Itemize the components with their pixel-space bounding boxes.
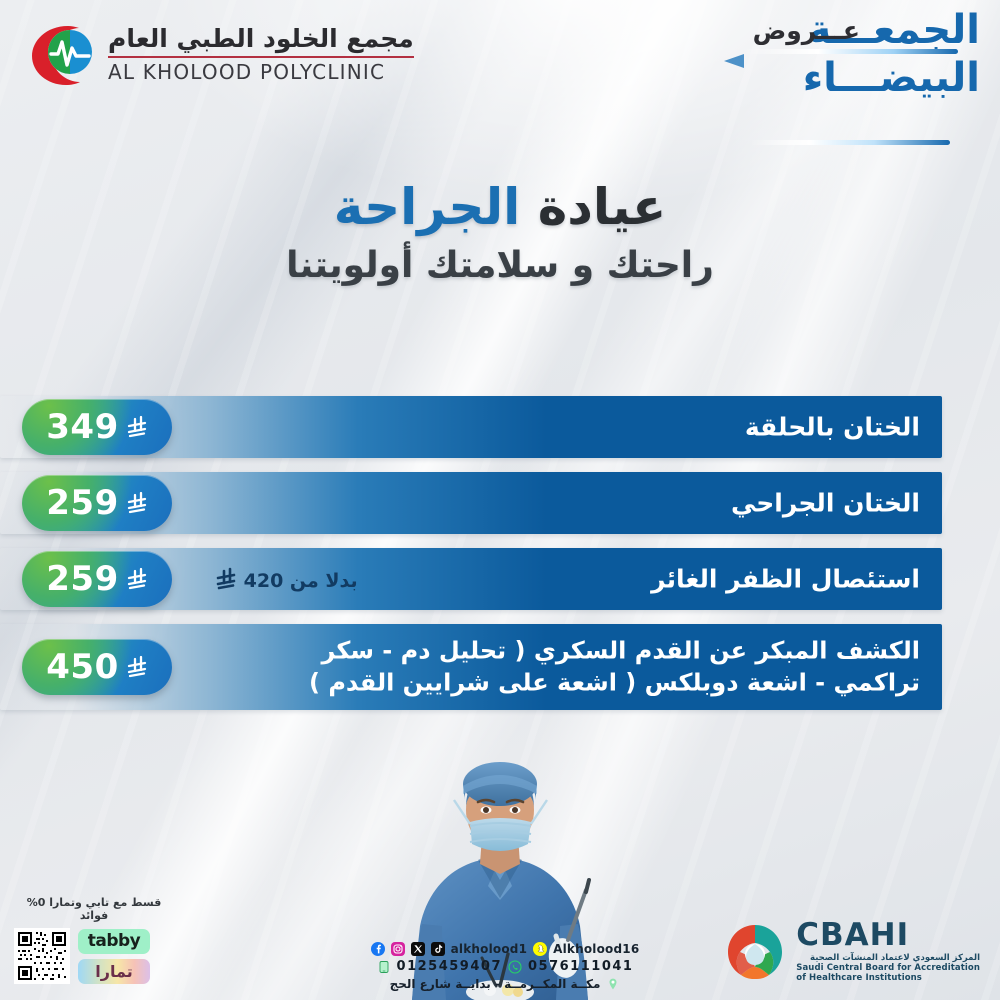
brand-lockup: مجمع الخلود الطبي العام AL KHOLOOD POLYC… <box>24 22 414 88</box>
location-pin-icon[interactable] <box>606 977 620 991</box>
tiktok-icon[interactable] <box>431 942 445 956</box>
whatsapp-icon[interactable] <box>508 960 522 974</box>
social-handle: alkholood1 <box>451 942 528 956</box>
offer-price-badge: 259 <box>22 551 172 607</box>
tamara-logo[interactable]: تمارا <box>78 959 150 984</box>
promo-small-word: عـــروض <box>753 16 860 45</box>
promo-poster: مجمع الخلود الطبي العام AL KHOLOOD POLYC… <box>0 0 1000 1000</box>
brand-text: مجمع الخلود الطبي العام AL KHOLOOD POLYC… <box>108 26 414 83</box>
x-twitter-icon[interactable] <box>411 942 425 956</box>
saudi-riyal-icon <box>126 566 148 592</box>
offer-price-badge: 259 <box>22 475 172 531</box>
title-prefix: عيادة <box>520 178 666 236</box>
offer-label: استئصال الظفر الغائر <box>651 563 920 596</box>
brand-name-arabic: مجمع الخلود الطبي العام <box>108 26 414 52</box>
phone-line: 0125459407 0576111041 <box>355 959 655 974</box>
phone-number: 0125459407 <box>397 959 502 974</box>
white-friday-badge: الجمعـــة عـــروض البيضـــاء <box>620 10 980 106</box>
brand-divider <box>108 56 414 58</box>
cbahi-swirl-logo-icon <box>724 921 786 983</box>
page-title-block: عيادة الجراحة راحتك و سلامتك أولويتنا <box>0 178 1000 286</box>
installment-note: قسط مع تابي وتمارا 0% فوائد <box>14 896 174 922</box>
offer-price-badge: 349 <box>22 399 172 455</box>
saudi-riyal-icon <box>126 414 148 440</box>
promo-line2: البيضـــاء <box>803 58 980 98</box>
promo-streak-bottom <box>750 140 950 145</box>
offer-old-price-text: بدلا من 420 <box>244 570 358 592</box>
page-subtitle: راحتك و سلامتك أولويتنا <box>0 245 1000 286</box>
clinic-address: مكــة المكــرمــة - بدايــة شارع الحج <box>390 977 601 991</box>
offers-list: الختان بالحلقة 349 الختان الجراحي 259 <box>0 396 1000 724</box>
snapchat-handle: Alkholood16 <box>553 942 639 956</box>
tabby-logo[interactable]: tabby <box>78 929 150 954</box>
promo-arrow-icon <box>724 54 744 68</box>
saudi-riyal-icon <box>126 654 148 680</box>
saudi-riyal-icon <box>215 566 237 592</box>
offer-price-value: 349 <box>46 410 118 444</box>
offer-label: الكشف المبكر عن القدم السكري ( تحليل دم … <box>280 635 920 698</box>
qr-code-icon[interactable] <box>14 928 70 984</box>
title-highlight: الجراحة <box>334 178 521 236</box>
cbahi-arabic-subtitle: المركز السعودي لاعتماد المنشآت الصحية <box>796 953 980 963</box>
offer-row[interactable]: الختان بالحلقة 349 <box>0 396 1000 458</box>
offer-label: الختان بالحلقة <box>745 411 920 444</box>
poster-header: مجمع الخلود الطبي العام AL KHOLOOD POLYC… <box>0 0 1000 110</box>
poster-footer: قسط مع تابي وتمارا 0% فوائد <box>0 890 1000 1000</box>
contact-block: alkholood1 Alkholood16 0125459407 057611… <box>355 942 655 994</box>
saudi-riyal-icon <box>126 490 148 516</box>
offer-price-value: 450 <box>46 650 118 684</box>
whatsapp-number: 0576111041 <box>528 959 633 974</box>
offer-label: الختان الجراحي <box>731 487 920 520</box>
offer-price-value: 259 <box>46 562 118 596</box>
cbahi-accreditation: CBAHI المركز السعودي لاعتماد المنشآت الص… <box>724 920 980 984</box>
facebook-icon[interactable] <box>371 942 385 956</box>
cbahi-english-line1: Saudi Central Board for Accreditation <box>796 963 980 974</box>
offer-price-badge: 450 <box>22 639 172 695</box>
offer-row[interactable]: الختان الجراحي 259 <box>0 472 1000 534</box>
offer-price-value: 259 <box>46 486 118 520</box>
instagram-icon[interactable] <box>391 942 405 956</box>
cbahi-name: CBAHI <box>796 920 980 951</box>
phone-icon[interactable] <box>377 960 391 974</box>
address-line: مكــة المكــرمــة - بدايــة شارع الحج <box>355 977 655 991</box>
social-handles-line: alkholood1 Alkholood16 <box>355 942 655 956</box>
offer-row[interactable]: استئصال الظفر الغائر بدلا من 420 259 <box>0 548 1000 610</box>
offer-row[interactable]: الكشف المبكر عن القدم السكري ( تحليل دم … <box>0 624 1000 710</box>
crescent-ecg-logo-icon <box>24 22 96 88</box>
cbahi-english-line2: of Healthcare Institutions <box>796 973 980 984</box>
payment-options: قسط مع تابي وتمارا 0% فوائد <box>14 896 174 984</box>
promo-streak-top <box>743 49 958 54</box>
offer-old-price: بدلا من 420 <box>215 566 358 592</box>
page-title: عيادة الجراحة <box>0 178 1000 237</box>
brand-name-english: AL KHOLOOD POLYCLINIC <box>108 60 385 84</box>
snapchat-icon[interactable] <box>533 942 547 956</box>
